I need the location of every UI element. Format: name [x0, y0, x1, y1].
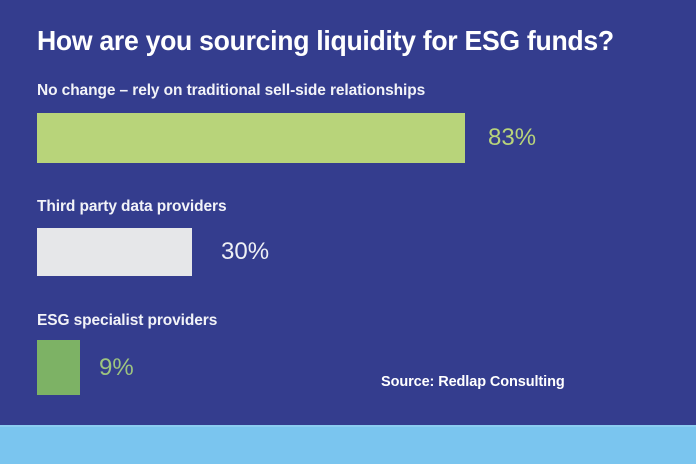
bar-value-esg-specialist-providers: 9% [99, 356, 134, 380]
bar-fill-no-change [37, 113, 465, 163]
bar-label-esg-specialist-providers: ESG specialist providers [37, 312, 217, 330]
bar-row-third-party-data-providers: 30% [37, 228, 269, 276]
bar-row-esg-specialist-providers: 9% [37, 340, 134, 395]
bar-fill-esg-specialist-providers [37, 340, 80, 395]
infographic-chart: How are you sourcing liquidity for ESG f… [0, 0, 696, 464]
bar-fill-third-party-data-providers [37, 228, 192, 276]
bar-label-third-party-data-providers: Third party data providers [37, 198, 226, 216]
footer-band [0, 425, 696, 464]
source-attribution: Source: Redlap Consulting [381, 374, 565, 390]
chart-title: How are you sourcing liquidity for ESG f… [37, 24, 636, 58]
bar-row-no-change: 83% [37, 113, 536, 163]
bar-value-no-change: 83% [488, 126, 536, 150]
footer-band-highlight [0, 425, 696, 427]
bar-label-no-change: No change – rely on traditional sell-sid… [37, 82, 425, 100]
bar-value-third-party-data-providers: 30% [221, 240, 269, 264]
